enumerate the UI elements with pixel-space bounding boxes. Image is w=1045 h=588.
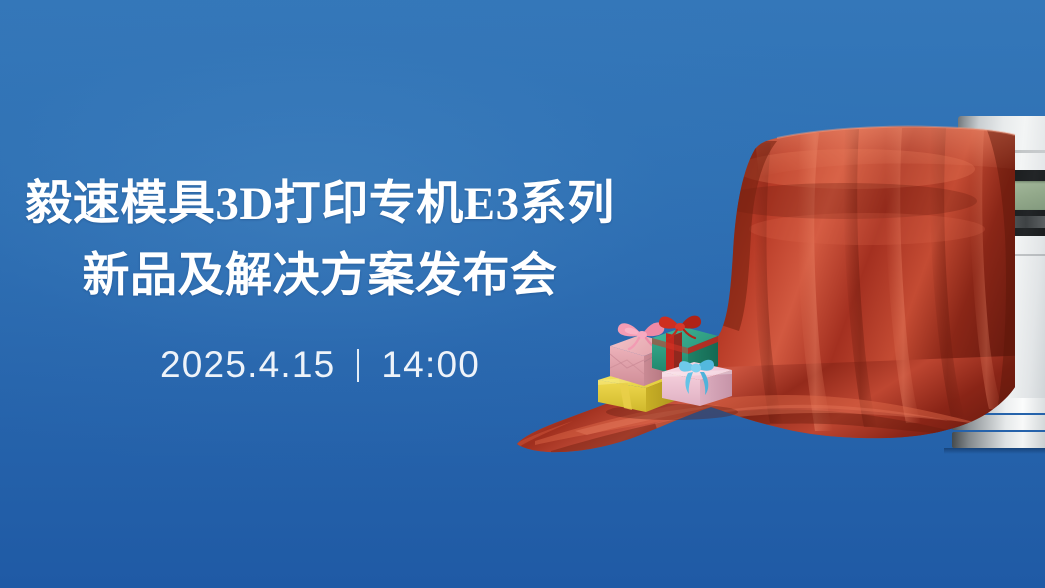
datetime-separator bbox=[357, 349, 359, 382]
title-line-1: 毅速模具3D打印专机E3系列 bbox=[0, 168, 640, 240]
event-time: 14:00 bbox=[381, 342, 480, 388]
event-date: 2025.4.15 bbox=[160, 342, 335, 388]
title-line-2: 新品及解决方案发布会 bbox=[0, 240, 640, 312]
event-poster: 毅速模具3D打印专机E3系列 新品及解决方案发布会 2025.4.15 14:0… bbox=[0, 0, 1045, 588]
page-title: 毅速模具3D打印专机E3系列 新品及解决方案发布会 bbox=[0, 168, 640, 312]
event-datetime: 2025.4.15 14:00 bbox=[0, 342, 640, 388]
